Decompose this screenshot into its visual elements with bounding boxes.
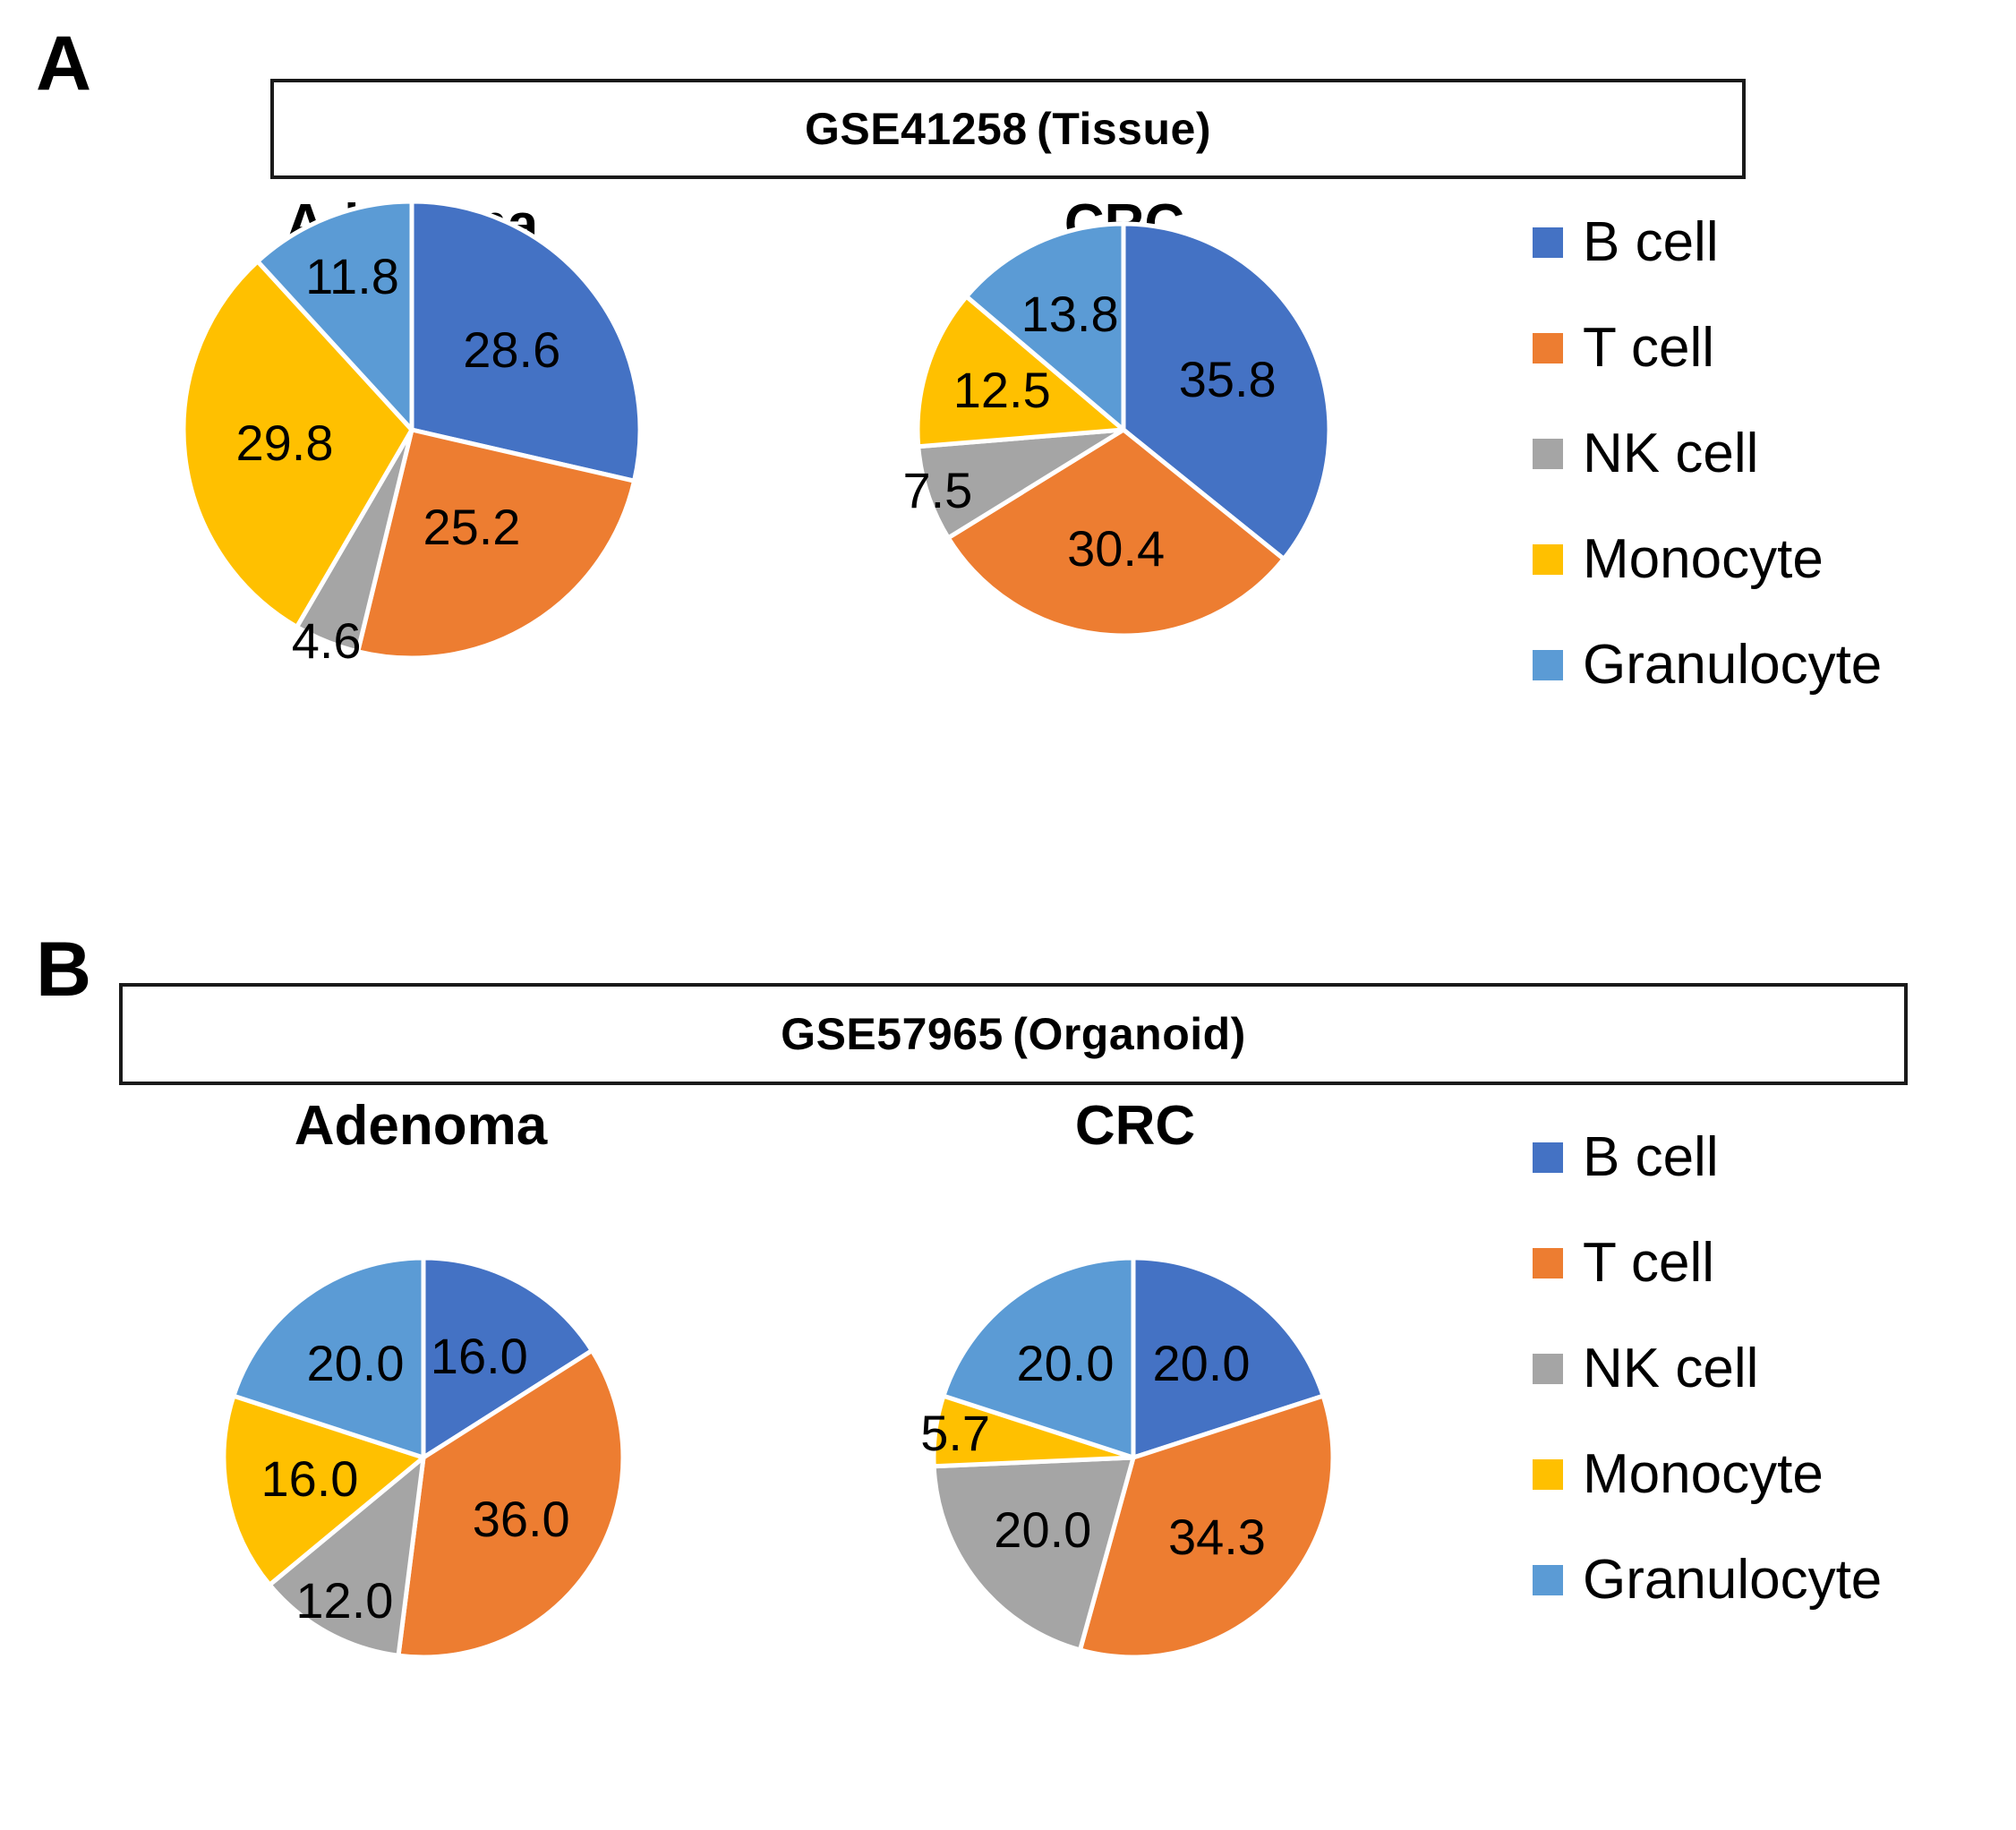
pie-slice-label-b-cell: 28.6 <box>463 325 560 375</box>
legend-item-nk-cell[interactable]: NK cell <box>1533 426 1882 482</box>
pie-slice-label-nk-cell: 20.0 <box>994 1505 1091 1555</box>
legend-label-t-cell: T cell <box>1583 321 1714 376</box>
b-cell-color-swatch-icon <box>1533 1142 1563 1173</box>
nk-cell-color-swatch-icon <box>1533 439 1563 469</box>
legend-label-t-cell: T cell <box>1583 1236 1714 1291</box>
legend-item-b-cell[interactable]: B cell <box>1533 1130 1882 1185</box>
pie-chart-panel-b-adenoma: 16.036.012.016.020.0 <box>224 1258 623 1657</box>
legend-label-nk-cell: NK cell <box>1583 426 1758 482</box>
pie-chart-panel-a-adenoma: 28.625.24.629.811.8 <box>184 201 640 658</box>
pie-chart-panel-b-crc: 20.034.320.05.720.0 <box>934 1258 1333 1657</box>
legend-panel-b: B cell T cell NK cell Monocyte Granulocy… <box>1533 1130 1882 1658</box>
pie-slice-label-t-cell: 34.3 <box>1168 1512 1266 1562</box>
pie-slice-label-t-cell: 30.4 <box>1067 524 1165 574</box>
legend-label-granulocyte: Granulocyte <box>1583 1552 1882 1608</box>
legend-item-nk-cell[interactable]: NK cell <box>1533 1341 1882 1397</box>
panel-a-title-text: GSE41258 (Tissue) <box>805 103 1211 155</box>
panel-letter-a: A <box>36 25 90 102</box>
pie-slice-label-b-cell: 16.0 <box>431 1331 528 1381</box>
t-cell-color-swatch-icon <box>1533 1248 1563 1278</box>
b-cell-color-swatch-icon <box>1533 227 1563 258</box>
pie-slice-label-b-cell: 20.0 <box>1153 1338 1251 1389</box>
legend-item-granulocyte[interactable]: Granulocyte <box>1533 637 1882 693</box>
t-cell-color-swatch-icon <box>1533 333 1563 363</box>
legend-item-granulocyte[interactable]: Granulocyte <box>1533 1552 1882 1608</box>
pie-slice-label-nk-cell: 4.6 <box>292 616 362 666</box>
legend-label-granulocyte: Granulocyte <box>1583 637 1882 693</box>
pie-slice-label-nk-cell: 7.5 <box>902 466 972 516</box>
pie-slice-label-monocyte: 29.8 <box>236 418 334 468</box>
monocyte-color-swatch-icon <box>1533 1459 1563 1490</box>
panel-letter-b: B <box>36 931 90 1008</box>
pie-svg <box>934 1258 1333 1657</box>
pie-slice-label-monocyte: 5.7 <box>920 1408 990 1458</box>
panel-b-group-title-adenoma: Adenoma <box>295 1094 547 1158</box>
figure-root: A GSE41258 (Tissue) Adenoma CRC 28.625.2… <box>0 0 2016 1830</box>
pie-chart-panel-a-crc: 35.830.47.512.513.8 <box>918 224 1329 636</box>
pie-slice-label-t-cell: 25.2 <box>423 502 520 552</box>
legend-label-monocyte: Monocyte <box>1583 532 1824 587</box>
legend-label-monocyte: Monocyte <box>1583 1447 1824 1502</box>
pie-slice-label-granulocyte: 20.0 <box>306 1338 404 1389</box>
legend-item-t-cell[interactable]: T cell <box>1533 1236 1882 1291</box>
panel-b-title-text: GSE57965 (Organoid) <box>781 1008 1246 1060</box>
pie-slice-label-t-cell: 36.0 <box>473 1494 570 1544</box>
pie-slice-label-granulocyte: 20.0 <box>1016 1338 1114 1389</box>
monocyte-color-swatch-icon <box>1533 544 1563 575</box>
legend-panel-a: B cell T cell NK cell Monocyte Granulocy… <box>1533 215 1882 743</box>
nk-cell-color-swatch-icon <box>1533 1354 1563 1384</box>
legend-item-monocyte[interactable]: Monocyte <box>1533 532 1882 587</box>
legend-label-b-cell: B cell <box>1583 1130 1719 1185</box>
pie-slice-label-nk-cell: 12.0 <box>295 1576 393 1626</box>
granulocyte-color-swatch-icon <box>1533 650 1563 680</box>
pie-slice-label-monocyte: 12.5 <box>953 365 1051 415</box>
legend-label-b-cell: B cell <box>1583 215 1719 270</box>
pie-slice-label-granulocyte: 13.8 <box>1021 289 1119 339</box>
panel-b-title-box: GSE57965 (Organoid) <box>119 983 1908 1085</box>
legend-item-b-cell[interactable]: B cell <box>1533 215 1882 270</box>
legend-item-monocyte[interactable]: Monocyte <box>1533 1447 1882 1502</box>
pie-slice-label-granulocyte: 11.8 <box>305 252 399 302</box>
legend-item-t-cell[interactable]: T cell <box>1533 321 1882 376</box>
panel-b-group-title-crc: CRC <box>1075 1094 1195 1158</box>
pie-slice-label-monocyte: 16.0 <box>261 1454 358 1504</box>
panel-a-title-box: GSE41258 (Tissue) <box>270 79 1746 179</box>
pie-slice-label-b-cell: 35.8 <box>1179 355 1277 405</box>
legend-label-nk-cell: NK cell <box>1583 1341 1758 1397</box>
granulocyte-color-swatch-icon <box>1533 1565 1563 1595</box>
